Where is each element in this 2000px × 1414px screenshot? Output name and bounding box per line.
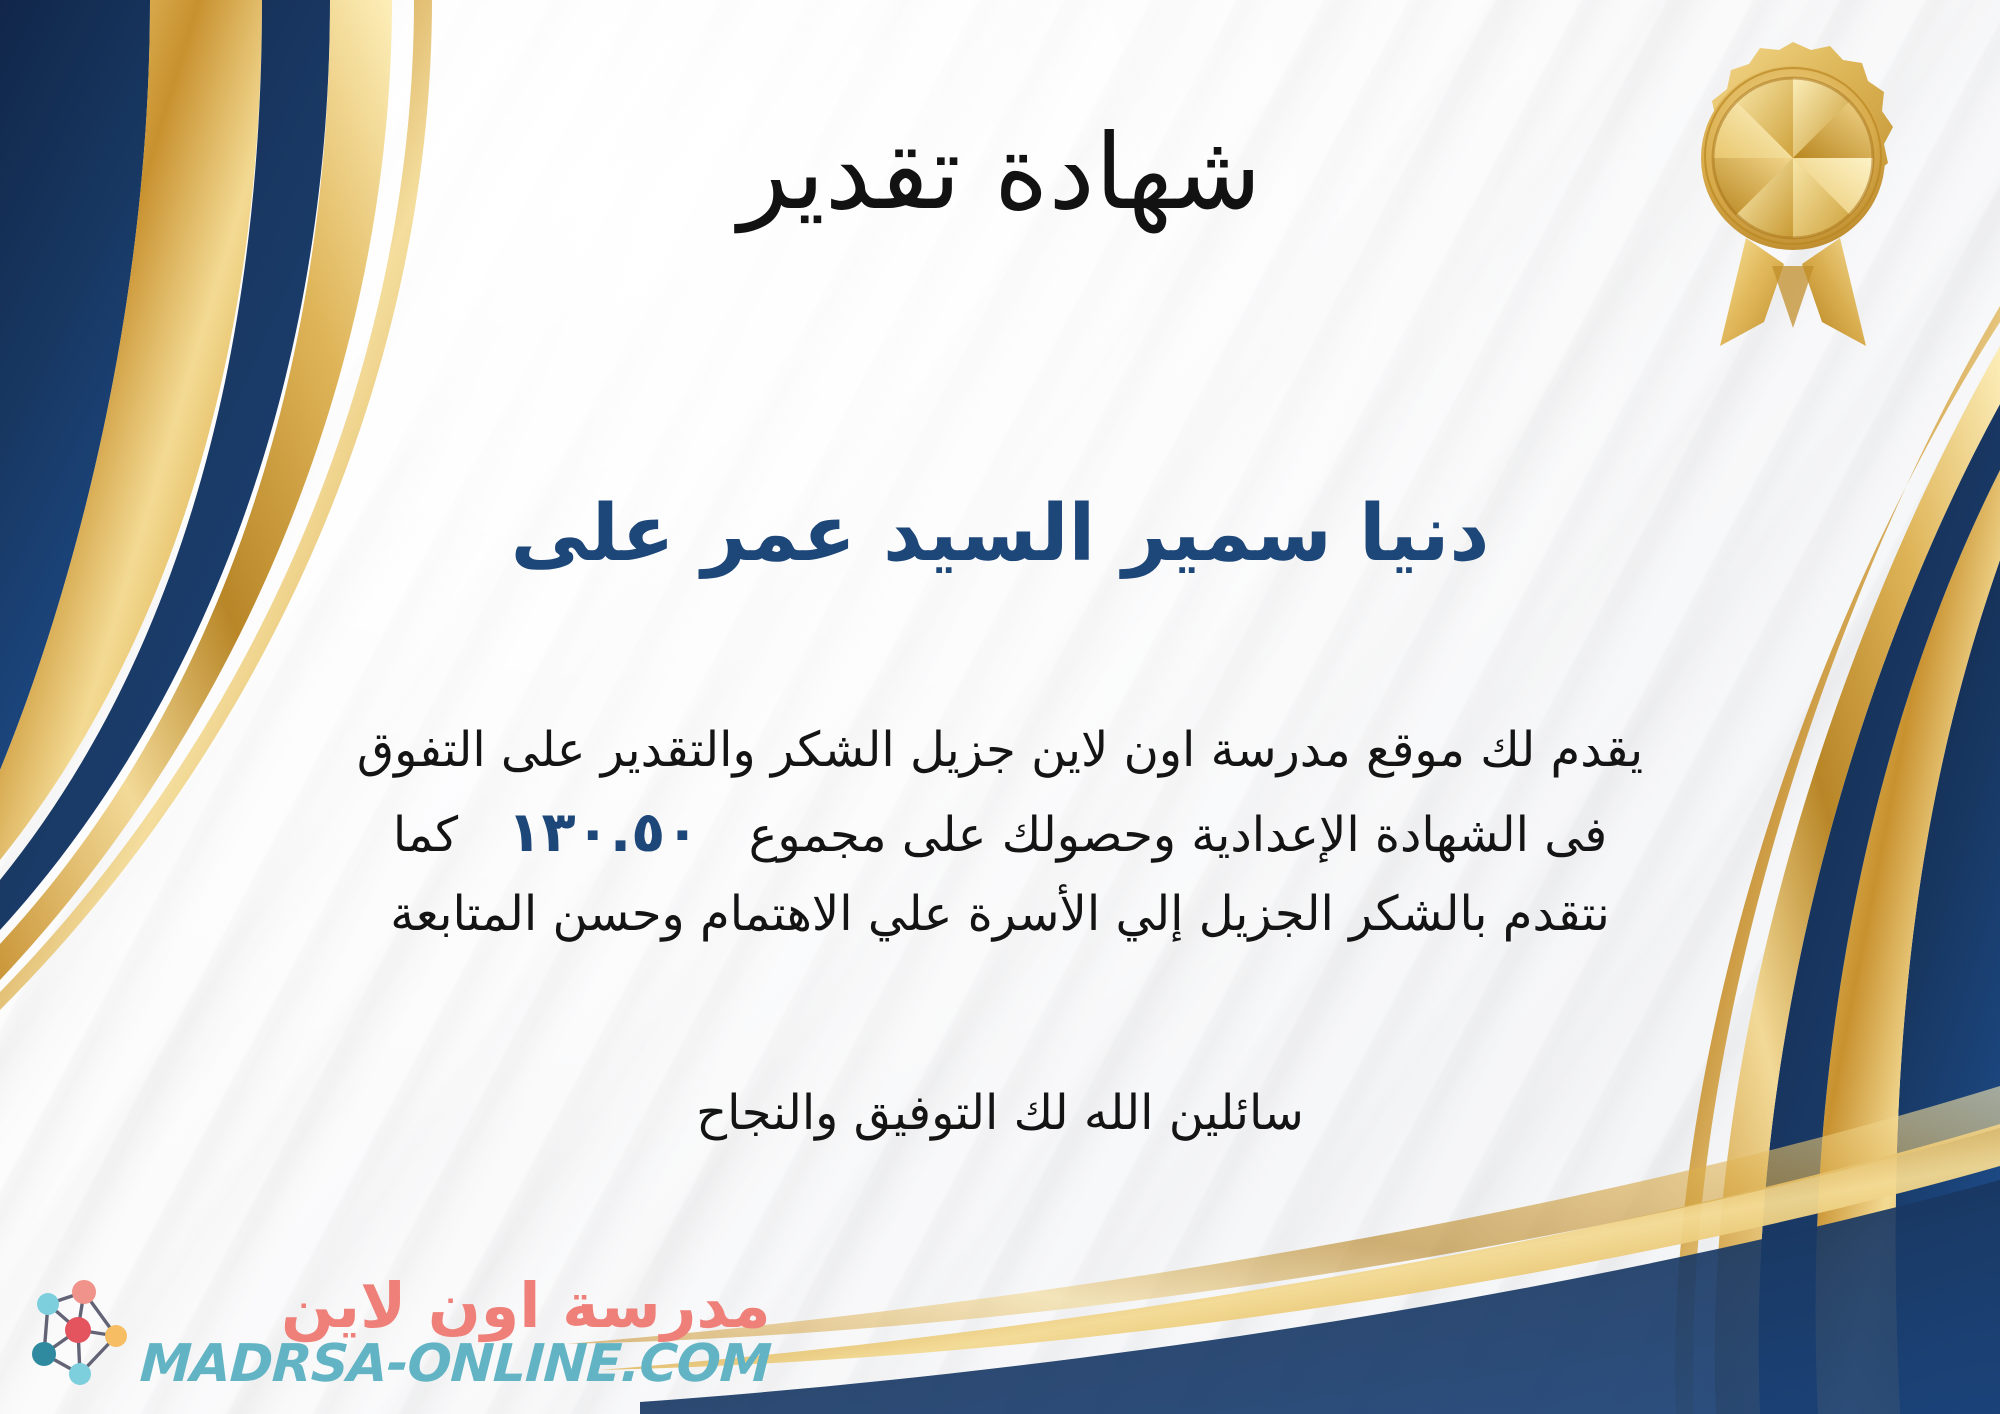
- logo-node-amber: [105, 1325, 127, 1347]
- logo-node-red: [65, 1317, 91, 1343]
- closing-line: سائلين الله لك التوفيق والنجاح: [0, 1085, 2000, 1141]
- body-line-2-text: فى الشهادة الإعدادية وحصولك على مجموع: [749, 807, 1607, 863]
- body-line-1: يقدم لك موقع مدرسة اون لاين جزيل الشكر و…: [150, 713, 1850, 789]
- certificate-content: شهادة تقدير دنيا سمير السيد عمر على يقدم…: [0, 0, 2000, 1414]
- brand-text-group: مدرسة اون لاين MADRSA-ONLINE.COM: [140, 1275, 771, 1392]
- body-line-2-suffix: كما: [393, 807, 458, 863]
- certificate-canvas: شهادة تقدير دنيا سمير السيد عمر على يقدم…: [0, 0, 2000, 1414]
- recipient-name: دنيا سمير السيد عمر على: [0, 492, 2000, 578]
- network-nodes-logo-icon: [18, 1274, 130, 1392]
- certificate-body: يقدم لك موقع مدرسة اون لاين جزيل الشكر و…: [150, 713, 1850, 953]
- body-line-2: فى الشهادة الإعدادية وحصولك على مجموع ١٣…: [150, 789, 1850, 877]
- grade-total-value: ١٣٠.٥٠: [473, 800, 733, 865]
- brand-arabic-name: مدرسة اون لاين: [140, 1275, 771, 1337]
- logo-node-lightblue-bottom: [69, 1363, 91, 1385]
- body-line-3: نتقدم بالشكر الجزيل إلي الأسرة علي الاهت…: [150, 877, 1850, 953]
- logo-node-teal: [32, 1342, 56, 1366]
- logo-node-lightblue-top: [37, 1293, 59, 1315]
- brand-logo[interactable]: مدرسة اون لاين MADRSA-ONLINE.COM: [18, 1274, 771, 1392]
- brand-website-text: MADRSA-ONLINE.COM: [139, 1337, 772, 1392]
- logo-node-salmon: [72, 1280, 96, 1304]
- page-title: شهادة تقدير: [0, 118, 2000, 227]
